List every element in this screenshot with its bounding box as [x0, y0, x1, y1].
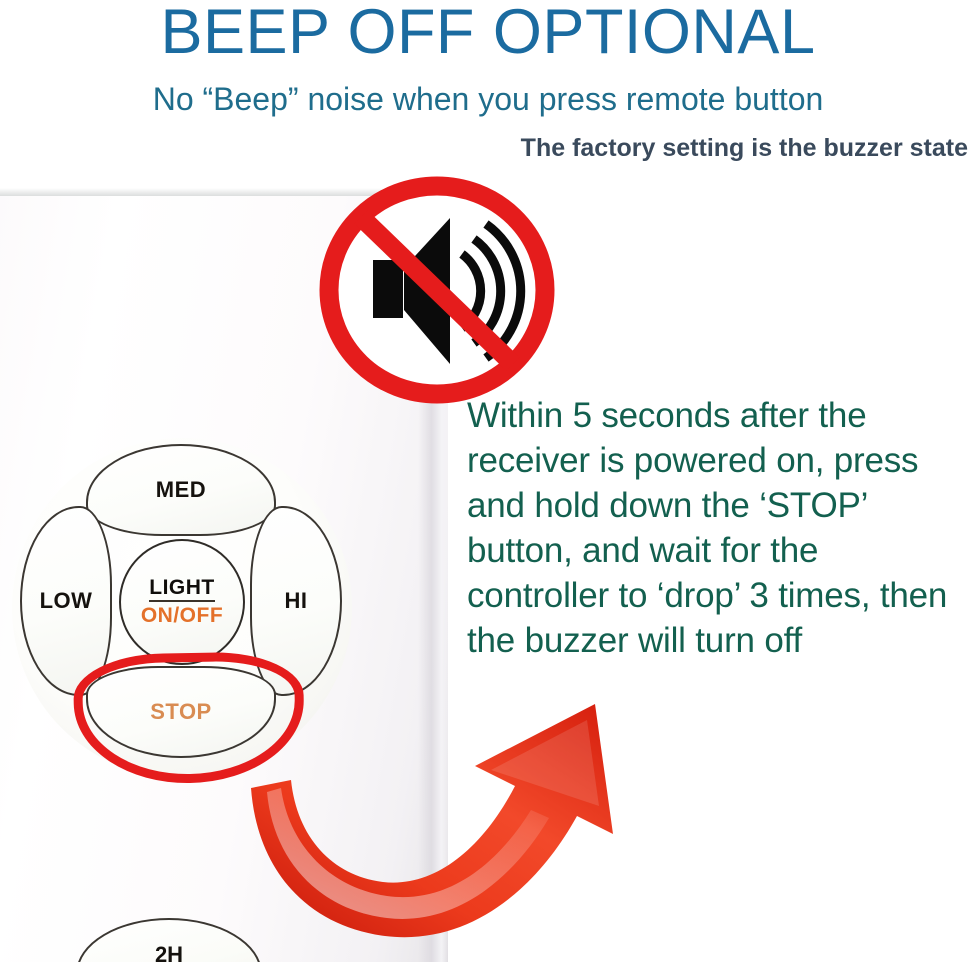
instruction-paragraph: Within 5 seconds after the receiver is p… — [467, 393, 967, 663]
remote-button-light-onoff[interactable]: LIGHT ON/OFF — [119, 539, 245, 665]
onoff-label: ON/OFF — [141, 604, 223, 628]
mute-speaker-prohibited-icon — [318, 176, 556, 406]
page-title: BEEP OFF OPTIONAL — [0, 0, 976, 66]
remote-button-cluster: MED LOW HI STOP LIGHT ON/OFF — [12, 438, 352, 778]
page-subtitle: No “Beep” noise when you press remote bu… — [0, 80, 976, 118]
light-label: LIGHT — [149, 576, 215, 602]
infographic-page: BEEP OFF OPTIONAL No “Beep” noise when y… — [0, 0, 976, 962]
factory-setting-note: The factory setting is the buzzer state — [0, 132, 968, 164]
